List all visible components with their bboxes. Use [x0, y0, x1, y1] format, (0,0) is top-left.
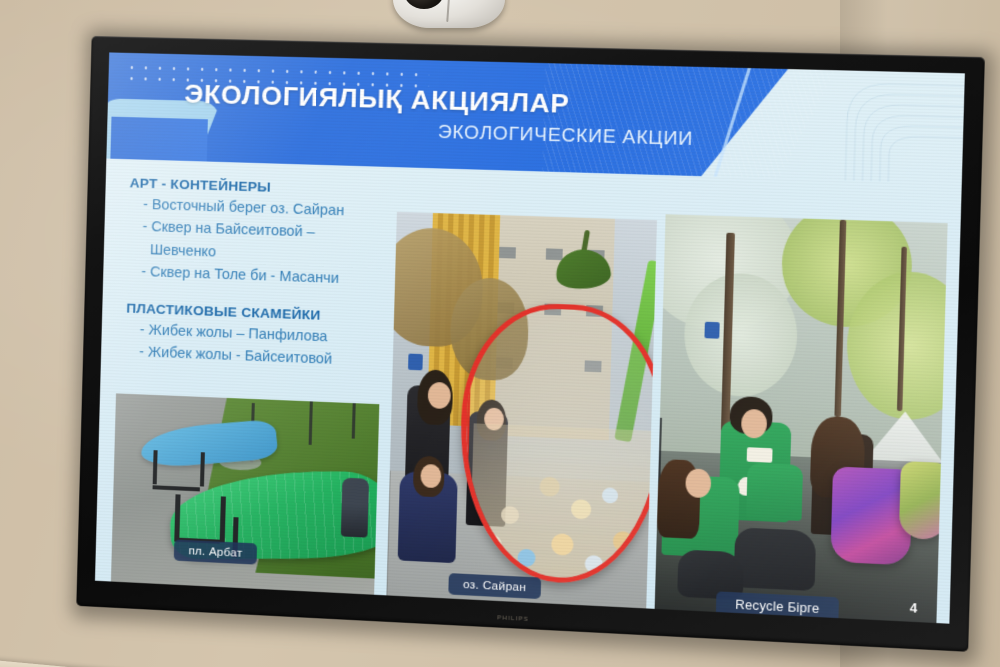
volunteer-back: [747, 462, 804, 520]
wall-display[interactable]: PHILIPS: [76, 36, 985, 652]
window: [546, 248, 563, 260]
camera-seam: [446, 0, 451, 22]
photo-apple-container: оз. Сайран: [386, 212, 657, 617]
display-screen[interactable]: ЭКОЛОГИЯЛЫҚ АКЦИЯЛАР ЭКОЛОГИЧЕСКИЕ АКЦИИ…: [95, 52, 965, 623]
black-trash-bag: [733, 527, 816, 591]
vertical-ribs: [462, 306, 657, 583]
camera-lens: [404, 0, 444, 9]
room-scene: PHILIPS: [0, 0, 1000, 667]
header-curve-decoration: [726, 72, 965, 184]
colorful-bag-2: [899, 461, 948, 540]
pedestrian: [341, 478, 369, 538]
head: [740, 409, 766, 439]
slide-header: ЭКОЛОГИЯЛЫҚ АКЦИЯЛАР ЭКОЛОГИЧЕСКИЕ АКЦИИ: [106, 52, 965, 183]
apple-shaped-mesh-container: [456, 301, 656, 588]
street-sign: [704, 322, 719, 339]
page-number: 4: [910, 601, 918, 616]
name-badge: [747, 447, 773, 463]
dome-camera-icon: [393, 0, 505, 32]
photo-caption: пл. Арбат: [174, 540, 257, 565]
photo-volunteers: Recycle Бірге 4: [654, 214, 947, 623]
list-art-containers: - Восточный берег оз. Сайран - Сквер на …: [127, 194, 399, 291]
slide-text-column: АРТ - КОНТЕЙНЕРЫ - Восточный берег оз. С…: [125, 175, 400, 375]
list-plastic-benches: - Жибек жолы – Панфилова - Жибек жолы - …: [125, 320, 396, 373]
photo-plastic-benches: пл. Арбат: [111, 393, 380, 603]
camera-housing: [393, 0, 505, 28]
window: [499, 247, 516, 259]
street-sign: [408, 353, 423, 370]
presentation-slide: ЭКОЛОГИЯЛЫҚ АКЦИЯЛАР ЭКОЛОГИЧЕСКИЕ АКЦИИ…: [95, 52, 965, 623]
